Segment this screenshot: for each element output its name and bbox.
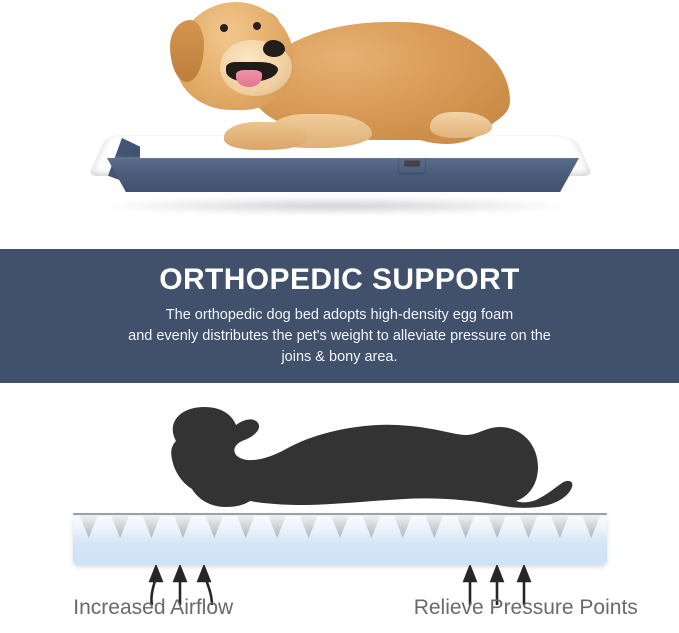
foam-teeth-row: [73, 513, 607, 539]
foam-tooth: [330, 513, 350, 538]
foam-tooth: [110, 513, 130, 538]
banner-description-line-2: and evenly distributes the pet's weight …: [70, 326, 610, 347]
golden-retriever-photo: [168, 0, 520, 162]
foam-tooth: [142, 513, 162, 538]
bed-front-face: [107, 158, 579, 192]
egg-foam-diagram: Increased Airflow Relieve Pressure Point…: [0, 383, 679, 633]
foam-tooth: [204, 513, 224, 538]
foam-tooth: [456, 513, 476, 538]
diagram-labels: Increased Airflow Relieve Pressure Point…: [0, 593, 679, 633]
egg-crate-foam-pad: [73, 513, 607, 565]
pressure-arrow-3-head: [519, 567, 530, 581]
foam-tooth: [236, 513, 256, 538]
airflow-arrow-3-head: [199, 567, 210, 581]
foam-tooth: [79, 513, 99, 538]
dog-nose: [263, 40, 285, 57]
foam-tooth: [267, 513, 287, 538]
pressure-arrow-1-head: [465, 567, 476, 581]
airflow-arrow-1-head: [151, 567, 162, 581]
dog-left-eye: [220, 24, 228, 32]
airflow-arrow-2-head: [175, 567, 186, 581]
dog-right-eye: [253, 22, 261, 30]
foam-tooth: [581, 513, 601, 538]
orthopedic-support-banner: ORTHOPEDIC SUPPORT The orthopedic dog be…: [0, 249, 679, 383]
foam-tooth: [550, 513, 570, 538]
dog-rear-paw: [430, 112, 492, 138]
dog-front-leg-2: [224, 122, 308, 150]
foam-tooth: [424, 513, 444, 538]
foam-tooth: [361, 513, 381, 538]
hero-product-photo: [0, 0, 679, 248]
pressure-arrow-2-head: [492, 567, 503, 581]
banner-title: ORTHOPEDIC SUPPORT: [0, 262, 679, 298]
banner-description-line-3: joins & bony area.: [70, 347, 610, 368]
foam-tooth: [487, 513, 507, 538]
foam-tooth: [173, 513, 193, 538]
foam-tooth: [393, 513, 413, 538]
foam-tooth: [299, 513, 319, 538]
label-relieve-pressure-points: Relieve Pressure Points: [351, 593, 679, 633]
foam-tooth: [518, 513, 538, 538]
banner-description: The orthopedic dog bed adopts high-densi…: [70, 305, 610, 368]
dog-silhouette-icon: [118, 401, 588, 523]
label-increased-airflow: Increased Airflow: [0, 593, 351, 633]
banner-description-line-1: The orthopedic dog bed adopts high-densi…: [70, 305, 610, 326]
